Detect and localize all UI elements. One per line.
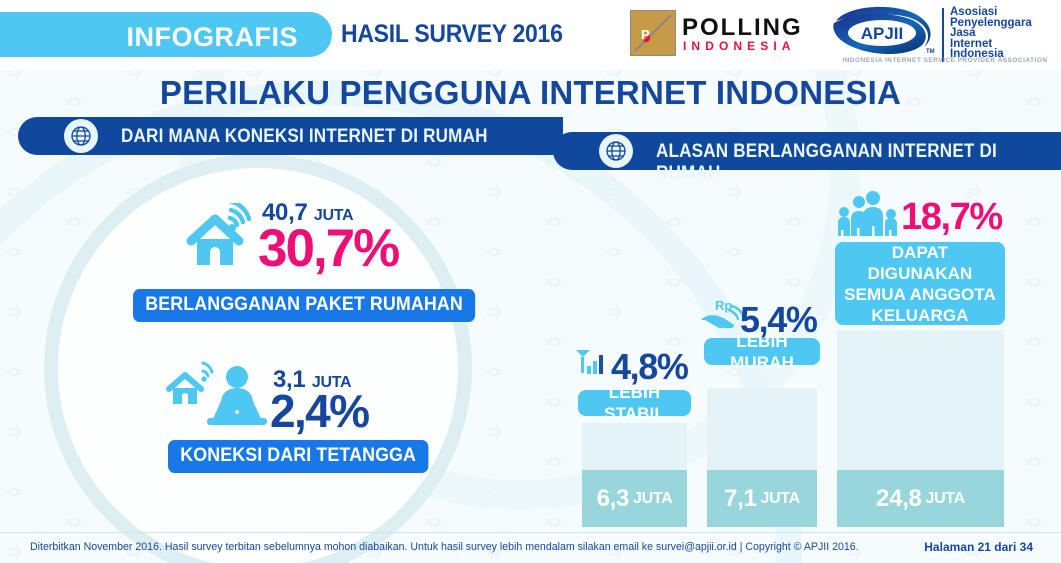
apjii-divider xyxy=(942,8,944,62)
footer-page-number: Halaman 21 dari 34 xyxy=(924,540,1033,554)
bar-value-3: 24,8 JUTA xyxy=(837,470,1004,527)
svg-text:TM: TM xyxy=(926,49,935,55)
section-label-left: DARI MANA KONEKSI INTERNET DI RUMAH xyxy=(121,126,488,148)
section-label-right: ALASAN BERLANGGANAN INTERNET DI RUMAH xyxy=(656,141,1021,185)
header-bar: INFOGRAFIS HASIL SURVEY 2016 P POLLING I… xyxy=(0,0,1061,70)
bar-lebih-murah: 7,1 JUTA xyxy=(707,388,817,527)
bar-value-1-number: 6,3 xyxy=(597,485,629,513)
apjii-line-1: Asosiasi xyxy=(950,7,1032,18)
bar-percent-3: 18,7% xyxy=(901,196,1002,239)
apjii-caption: INDONESIA INTERNET SERVICE PROVIDER ASSO… xyxy=(832,57,1058,64)
bar-value-2-number: 7,1 xyxy=(724,485,756,513)
footer-note: Diterbitkan November 2016. Hasil survey … xyxy=(30,541,859,553)
bar-semua-anggota-keluarga: 24,8 JUTA xyxy=(837,330,1004,527)
stat-label-1: BERLANGGANAN PAKET RUMAHAN xyxy=(133,289,497,322)
stat-label-2: KONEKSI DARI TETANGGA xyxy=(168,440,445,473)
bar-percent-2: 5,4% xyxy=(740,299,816,341)
survey-subtitle: HASIL SURVEY 2016 xyxy=(341,20,563,49)
family-icon xyxy=(833,190,905,240)
stat-percent-1: 30,7% xyxy=(258,224,398,274)
polling-indonesia-logo: P POLLING INDONESIA xyxy=(630,10,800,58)
bar-value-1: 6,3 JUTA xyxy=(582,470,687,527)
stat-percent-2: 2,4% xyxy=(270,389,368,433)
footer-divider xyxy=(0,532,1061,533)
stat-label-1-text: BERLANGGANAN PAKET RUMAHAN xyxy=(133,289,475,322)
svg-text:APJII: APJII xyxy=(861,24,904,43)
globe-icon xyxy=(64,119,98,153)
bar-value-3-unit: JUTA xyxy=(926,490,965,508)
section-header-left: DARI MANA KONEKSI INTERNET DI RUMAH xyxy=(18,117,563,155)
globe-icon xyxy=(599,134,633,168)
stat-label-2-text: KONEKSI DARI TETANGGA xyxy=(168,440,428,473)
bar-caption-2: LEBIH MURAH xyxy=(704,338,820,365)
polling-logo-name: POLLING xyxy=(682,14,803,42)
bar-value-2: 7,1 JUTA xyxy=(707,470,817,527)
infografis-badge: INFOGRAFIS xyxy=(0,12,332,57)
hand-money-icon: Rp xyxy=(699,296,745,334)
bar-value-3-number: 24,8 xyxy=(876,485,922,513)
person-laptop-house-wifi-icon xyxy=(163,361,271,427)
bar-lebih-stabil: 6,3 JUTA xyxy=(582,423,687,527)
infografis-label: INFOGRAFIS xyxy=(127,22,299,53)
bar-caption-1: LEBIH STABIL xyxy=(578,390,691,416)
bar-percent-1: 4,8% xyxy=(611,346,687,388)
page-title: PERILAKU PENGGUNA INTERNET INDONESIA xyxy=(0,74,1061,112)
bar-value-2-unit: JUTA xyxy=(761,490,800,508)
bar-value-1-unit: JUTA xyxy=(633,490,672,508)
svg-text:P: P xyxy=(641,27,650,42)
polling-logo-mark: P xyxy=(630,10,676,56)
house-wifi-icon xyxy=(185,203,257,273)
polling-pencil-icon: P xyxy=(631,11,675,55)
polling-logo-sub: INDONESIA xyxy=(683,39,796,53)
apjii-logo: APJII TM Asosiasi Penyelenggara Jasa Int… xyxy=(832,5,1058,65)
bar-caption-3: DAPAT DIGUNAKAN SEMUA ANGGOTA KELUARGA xyxy=(835,242,1005,325)
apjii-swoosh-icon: APJII TM xyxy=(832,5,940,57)
section-header-right: ALASAN BERLANGGANAN INTERNET DI RUMAH xyxy=(553,132,1061,170)
infographic-page: INFOGRAFIS HASIL SURVEY 2016 P POLLING I… xyxy=(0,0,1061,563)
signal-bars-icon xyxy=(572,344,612,384)
apjii-fullname: Asosiasi Penyelenggara Jasa Internet Ind… xyxy=(950,7,1032,60)
